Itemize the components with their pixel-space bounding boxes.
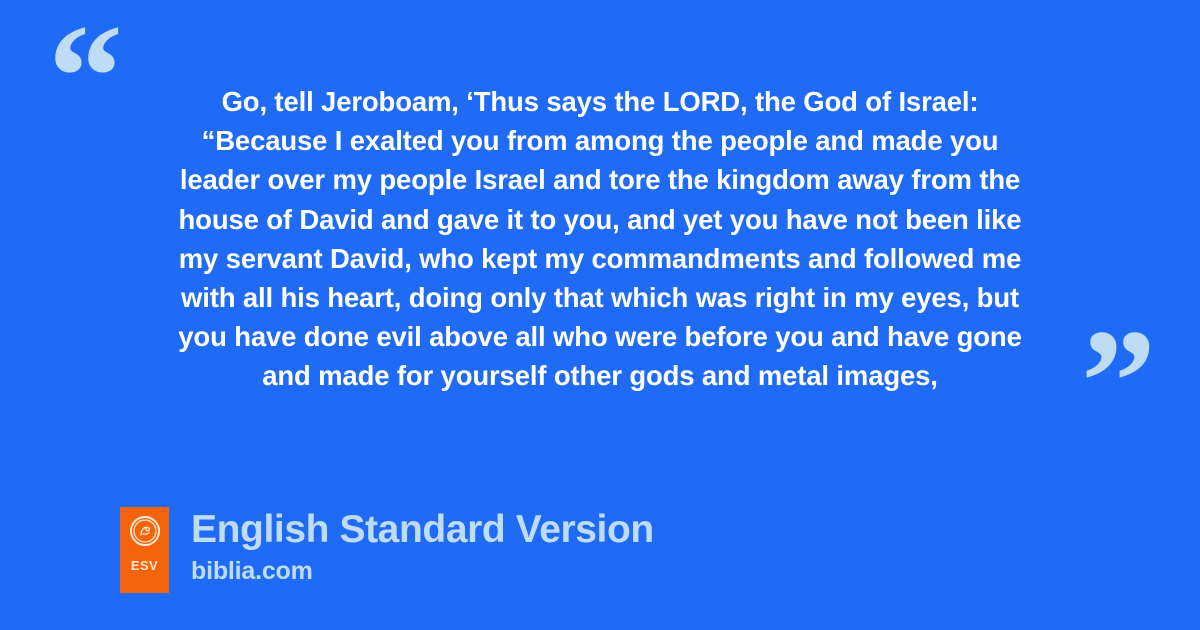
esv-seal-icon xyxy=(130,516,160,546)
attribution-text: English Standard Version biblia.com xyxy=(191,507,654,586)
verse-line: Go, tell Jeroboam, ‘Thus says the LORD, … xyxy=(110,82,1090,121)
verse-line: house of David and gave it to you, and y… xyxy=(110,200,1090,239)
verse-image-card: “ ” Go, tell Jeroboam, ‘Thus says the LO… xyxy=(0,0,1200,630)
esv-logo-label: ESV xyxy=(131,559,158,572)
source-website-url: biblia.com xyxy=(191,556,654,586)
bible-version-name: English Standard Version xyxy=(191,507,654,553)
close-quote-icon: ” xyxy=(1081,307,1154,457)
verse-line: my servant David, who kept my commandmen… xyxy=(110,239,1090,278)
attribution: ESV English Standard Version biblia.com xyxy=(120,507,654,593)
verse-line: “Because I exalted you from among the pe… xyxy=(110,121,1090,160)
verse-line: leader over my people Israel and tore th… xyxy=(110,160,1090,199)
verse-line: with all his heart, doing only that whic… xyxy=(110,278,1090,317)
verse-text-block: Go, tell Jeroboam, ‘Thus says the LORD, … xyxy=(110,82,1090,396)
verse-line: you have done evil above all who were be… xyxy=(110,317,1090,356)
esv-logo-badge: ESV xyxy=(120,507,169,593)
verse-line: and made for yourself other gods and met… xyxy=(110,356,1090,395)
